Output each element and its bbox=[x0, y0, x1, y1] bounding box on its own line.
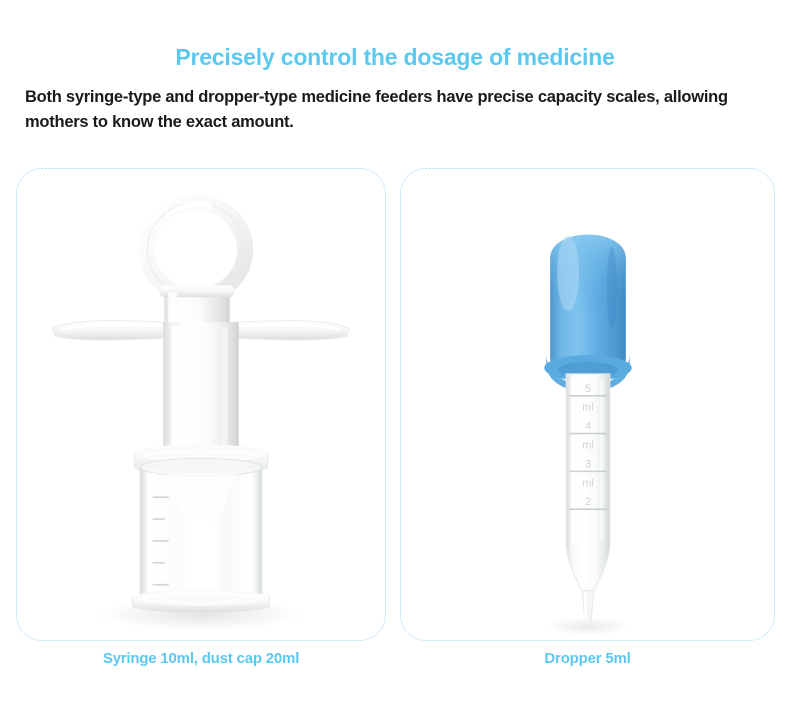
svg-text:ml: ml bbox=[582, 439, 594, 451]
svg-text:ml: ml bbox=[582, 402, 594, 414]
syringe-illustration bbox=[17, 169, 385, 639]
svg-text:4: 4 bbox=[585, 421, 591, 433]
caption-dropper: Dropper 5ml bbox=[400, 650, 775, 667]
dropper-illustration: 5 ml 4 ml 3 ml 2 bbox=[401, 169, 774, 639]
svg-text:2: 2 bbox=[585, 496, 591, 508]
svg-text:3: 3 bbox=[585, 458, 591, 470]
dropper-bulb bbox=[544, 235, 632, 392]
syringe-plunger-ring bbox=[147, 203, 244, 296]
product-card-syringe bbox=[16, 168, 386, 641]
svg-text:ml: ml bbox=[582, 477, 594, 489]
dropper-tube: 5 ml 4 ml 3 ml 2 bbox=[566, 374, 610, 626]
svg-text:5: 5 bbox=[585, 383, 591, 395]
caption-syringe: Syringe 10ml, dust cap 20ml bbox=[16, 650, 386, 667]
page-description: Both syringe-type and dropper-type medic… bbox=[25, 85, 770, 135]
syringe-dust-cap bbox=[132, 458, 269, 612]
page-title: Precisely control the dosage of medicine bbox=[0, 44, 790, 71]
product-card-dropper: 5 ml 4 ml 3 ml 2 bbox=[400, 168, 775, 641]
syringe-barrel bbox=[163, 322, 239, 451]
